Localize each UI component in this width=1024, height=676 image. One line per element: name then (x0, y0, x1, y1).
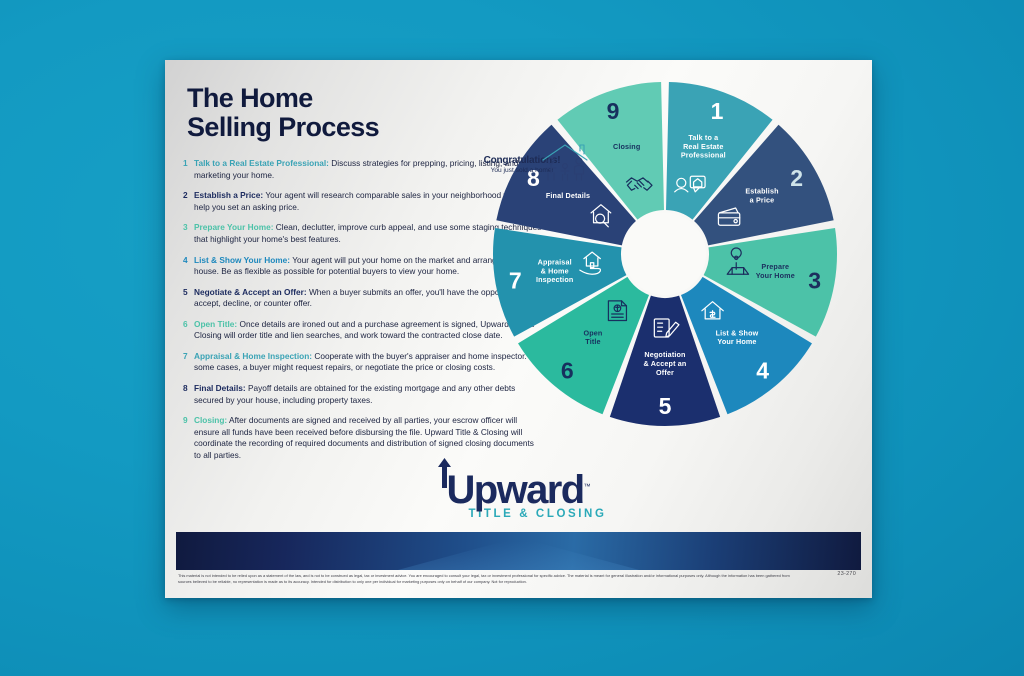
segment-label: PrepareYour Home (756, 262, 795, 280)
step-term: List & Show Your Home: (194, 255, 290, 265)
step-term: Talk to a Real Estate Professional: (194, 158, 329, 168)
disclaimer-text: This material is not intended to be reli… (178, 573, 802, 585)
upward-arrow-icon (437, 458, 452, 488)
logo-trademark: ™ (584, 484, 591, 491)
step-number: 5 (183, 287, 194, 311)
segment-label: OpenTitle (584, 328, 603, 346)
logo-word-text: pward (474, 468, 584, 512)
step-number: 8 (183, 383, 194, 407)
segment-number: 2 (790, 165, 803, 191)
wheel-center-hub (624, 213, 706, 295)
segment-number: 9 (607, 98, 620, 124)
step-number: 1 (183, 158, 194, 182)
segment-number: 4 (756, 357, 769, 383)
process-wheel-svg: Talk to aReal EstateProfessional1Establi… (465, 60, 865, 454)
step-term: Appraisal & Home Inspection: (194, 351, 312, 361)
segment-number: 5 (659, 393, 672, 419)
segment-label: Final Details (546, 191, 590, 200)
step-number: 3 (183, 222, 194, 246)
brand-logo: Upward™ TITLE & CLOSING (165, 470, 872, 522)
footer-band (176, 532, 861, 570)
family-house-icon (535, 142, 595, 182)
segment-number: 1 (711, 98, 724, 124)
step-term: Prepare Your Home: (194, 222, 273, 232)
step-number: 4 (183, 255, 194, 279)
segment-label: Closing (613, 142, 640, 151)
step-number: 7 (183, 351, 194, 375)
segment-number: 6 (561, 357, 574, 383)
document-code: 23-270 (837, 571, 856, 577)
process-wheel: Talk to aReal EstateProfessional1Establi… (465, 60, 865, 454)
segment-number: 3 (808, 267, 821, 293)
step-term: Final Details: (194, 383, 246, 393)
step-term: Closing: (194, 415, 227, 425)
step-term: Establish a Price: (194, 190, 263, 200)
segment-number: 7 (509, 267, 522, 293)
step-number: 9 (183, 415, 194, 462)
step-number: 6 (183, 319, 194, 343)
step-term: Open Title: (194, 319, 237, 329)
segment-label: List & ShowYour Home (716, 328, 759, 346)
segment-label: Establisha Price (745, 187, 778, 205)
poster-sheet: The Home Selling Process 1Talk to a Real… (165, 60, 872, 598)
step-term: Negotiate & Accept an Offer: (194, 287, 307, 297)
logo-wordmark: Upward™ (430, 470, 606, 510)
segment-label: Appraisal& HomeInspection (536, 258, 573, 285)
step-number: 2 (183, 190, 194, 214)
